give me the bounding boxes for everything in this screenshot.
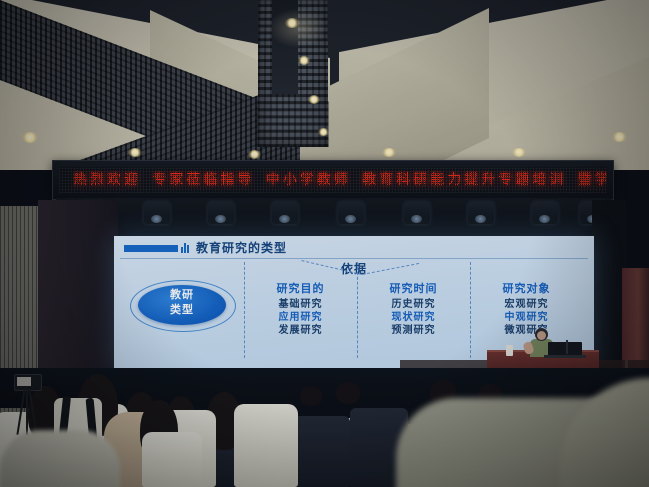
presenter-face — [537, 331, 546, 340]
downlight-left-1 — [22, 132, 38, 143]
downlight-left-2 — [128, 148, 142, 157]
downlight-right-1 — [382, 148, 396, 157]
column-header-2: 研究时间 — [357, 280, 470, 296]
stage-light-7 — [468, 202, 494, 224]
tripod-leg-center — [26, 389, 28, 435]
led-banner-text: 热烈欢迎 专家莅临指导 中小学教师 教育科研能力提升专题培训 暨学术交流活动 — [73, 170, 607, 190]
stage-light-4 — [272, 202, 298, 224]
seat-cream-4[interactable] — [234, 404, 298, 487]
ceiling-glow — [268, 8, 328, 48]
slide-column-headers: 研究目的 研究时间 研究对象 — [244, 280, 584, 296]
column-items-3: 宏观研究 中观研究 微观研究 — [470, 298, 583, 337]
stage-cup — [506, 345, 513, 356]
laptop — [548, 342, 582, 356]
tripod-leg-left — [16, 389, 25, 435]
item-3-2: 中观研究 — [470, 311, 583, 324]
downlight-right-3 — [612, 132, 627, 142]
microphone — [566, 340, 568, 354]
stage-light-2 — [144, 202, 170, 224]
slide-bars-icon — [181, 243, 190, 253]
column-items-2: 历史研究 现状研究 预测研究 — [357, 298, 470, 337]
item-1-3: 发展研究 — [244, 324, 357, 337]
slide-accent-bar — [124, 245, 178, 252]
stage-light-8 — [532, 202, 558, 224]
item-1-2: 应用研究 — [244, 311, 357, 324]
item-3-3: 微观研究 — [470, 324, 583, 337]
slide-divider — [120, 258, 588, 259]
stage-light-5 — [338, 202, 364, 224]
stage-light-6 — [404, 202, 430, 224]
downlight-left-3 — [248, 150, 261, 159]
coffered-ceiling — [0, 0, 649, 170]
item-2-2: 现状研究 — [357, 311, 470, 324]
seat-cream-5[interactable] — [142, 432, 202, 487]
center-node-label: 教研 类型 — [138, 288, 226, 318]
item-2-1: 历史研究 — [357, 298, 470, 311]
stage-light-truss — [56, 198, 612, 230]
downlight-2 — [298, 56, 310, 65]
item-2-3: 预测研究 — [357, 324, 470, 337]
column-items-1: 基础研究 应用研究 发展研究 — [244, 298, 357, 337]
slide-title: 教育研究的类型 — [196, 239, 287, 256]
foreground-chair-3[interactable] — [0, 430, 120, 487]
downlight-right-2 — [512, 148, 526, 157]
center-node-line-1: 教研 — [138, 288, 226, 303]
seat-dark-2[interactable] — [290, 416, 350, 487]
led-banner: 热烈欢迎 专家莅临指导 中小学教师 教育科研能力提升专题培训 暨学术交流活动 — [52, 160, 614, 200]
center-node-line-2: 类型 — [138, 303, 226, 318]
lecture-hall-photo: 热烈欢迎 专家莅临指导 中小学教师 教育科研能力提升专题培训 暨学术交流活动 教… — [0, 0, 649, 487]
downlight-4 — [318, 128, 329, 136]
recording-camera[interactable] — [12, 374, 42, 434]
column-header-3: 研究对象 — [470, 280, 583, 296]
stage-light-3 — [208, 202, 234, 224]
slide-header: 教育研究的类型 教师专业发展研究 — [114, 236, 594, 258]
downlight-3 — [308, 95, 320, 104]
slide-basis-row: 依据 — [114, 260, 594, 278]
item-3-1: 宏观研究 — [470, 298, 583, 311]
tripod-leg-right — [28, 389, 37, 435]
column-header-1: 研究目的 — [244, 280, 357, 296]
item-1-1: 基础研究 — [244, 298, 357, 311]
led-matrix-panel: 热烈欢迎 专家莅临指导 中小学教师 教育科研能力提升专题培训 暨学术交流活动 — [59, 167, 607, 193]
laptop-base — [544, 355, 586, 358]
downlight-1 — [285, 18, 299, 28]
camera-screen — [17, 377, 31, 386]
audience-head-back-2 — [336, 382, 360, 404]
audience-head-back-1 — [300, 386, 322, 406]
